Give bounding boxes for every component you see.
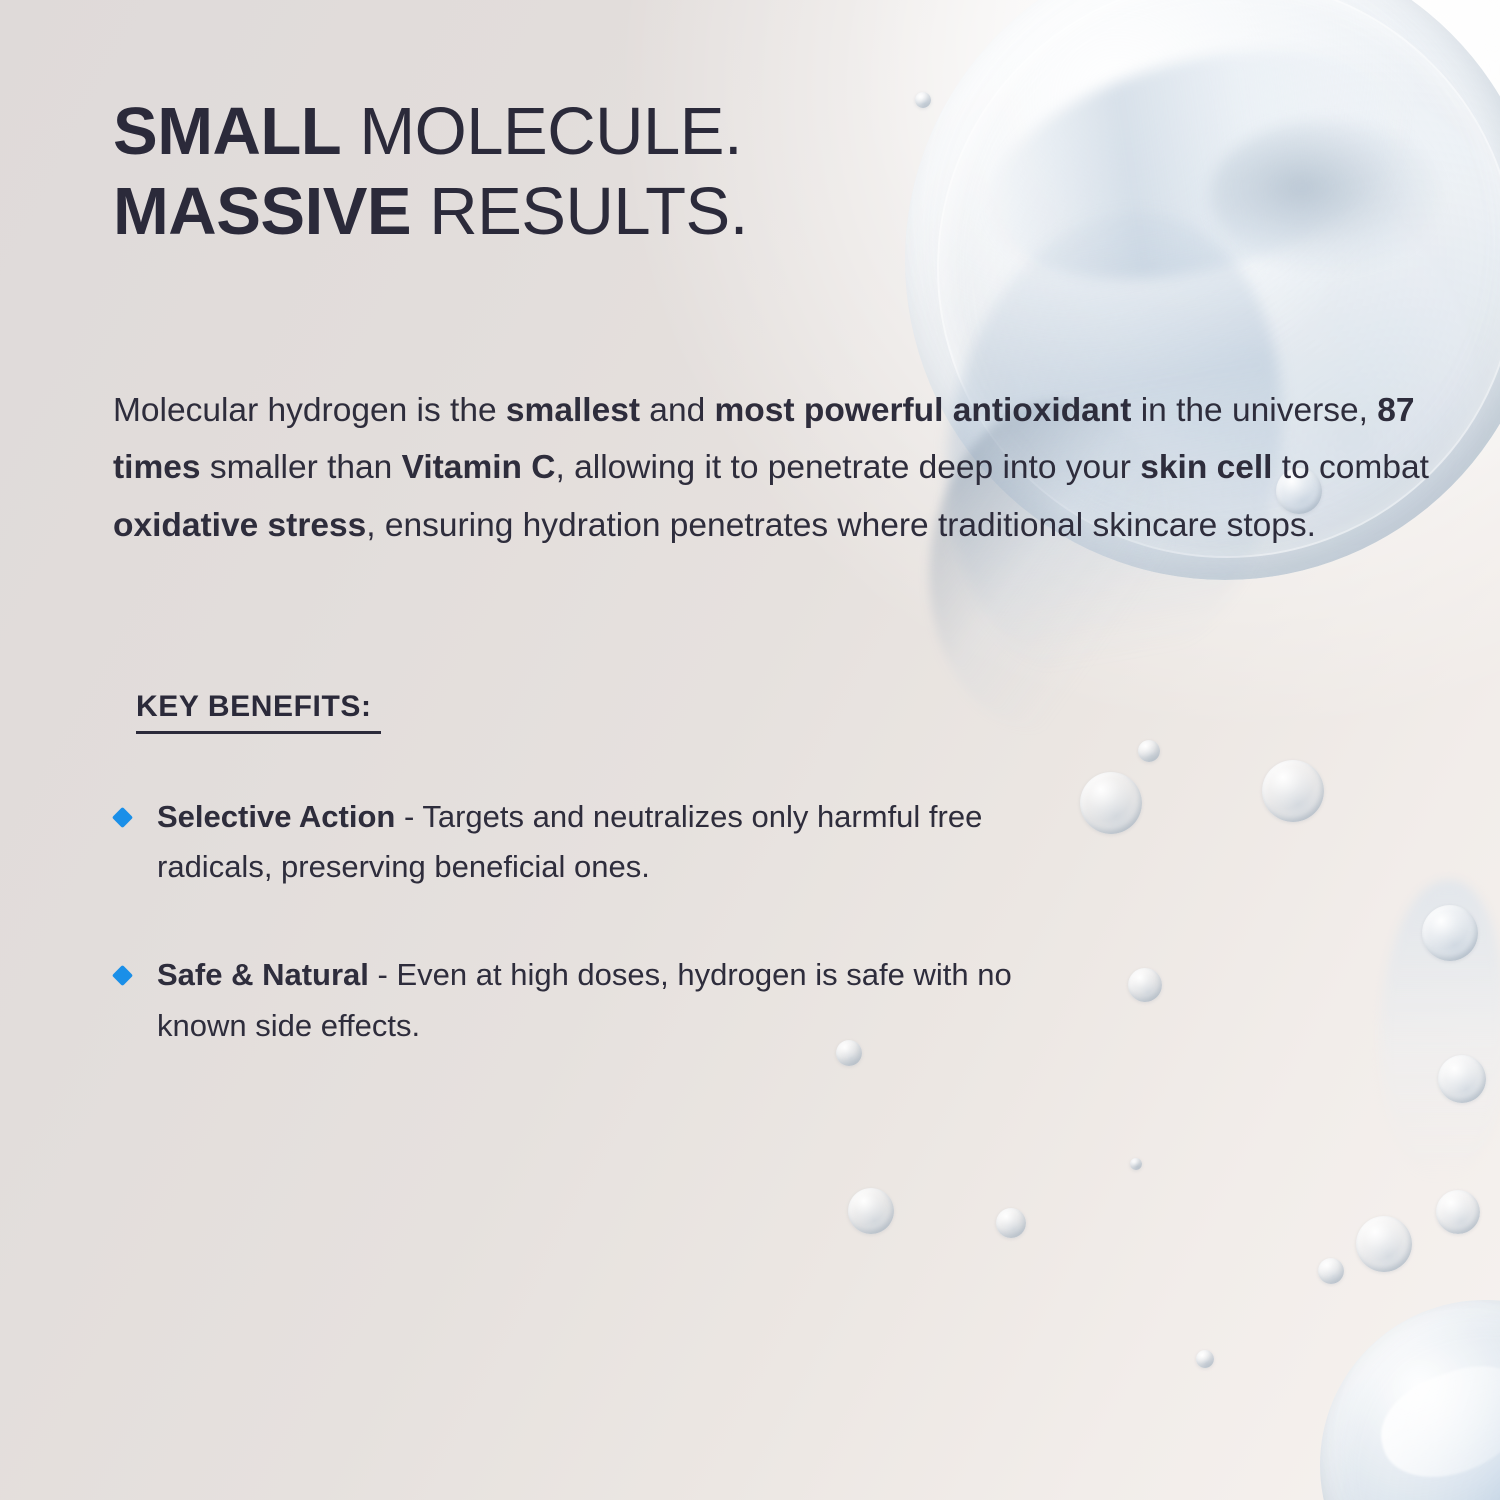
para-text: Molecular hydrogen is the <box>113 392 506 429</box>
para-bold-skin-cell: skin cell <box>1140 449 1272 486</box>
para-text: , allowing it to penetrate deep into you… <box>556 449 1141 486</box>
para-bold-antioxidant: most powerful antioxidant <box>715 392 1132 429</box>
benefit-title: Safe & Natural <box>157 957 369 992</box>
diamond-bullet-icon <box>112 807 133 828</box>
para-text: smaller than <box>201 449 402 486</box>
benefit-separator: - <box>395 799 422 834</box>
headline-emphasis-massive: MASSIVE <box>113 174 411 249</box>
para-bold-oxidative-stress: oxidative stress <box>113 507 366 544</box>
benefit-title: Selective Action <box>157 799 395 834</box>
benefit-separator: - <box>369 957 397 992</box>
headline-emphasis-small: SMALL <box>113 94 341 169</box>
para-bold-smallest: smallest <box>506 392 640 429</box>
infographic-canvas: SMALL MOLECULE. MASSIVE RESULTS. Molecul… <box>0 0 1500 1500</box>
page-title: SMALL MOLECULE. MASSIVE RESULTS. <box>113 92 973 251</box>
list-item: Selective Action - Targets and neutraliz… <box>113 792 1063 892</box>
para-text: and <box>640 392 715 429</box>
list-item: Safe & Natural - Even at high doses, hyd… <box>113 950 1063 1050</box>
headline-rest-results: RESULTS. <box>411 174 748 249</box>
text-content: SMALL MOLECULE. MASSIVE RESULTS. Molecul… <box>0 0 1500 1500</box>
para-text: to combat <box>1272 449 1428 486</box>
para-text: , ensuring hydration penetrates where tr… <box>366 507 1316 544</box>
body-paragraph: Molecular hydrogen is the smallest and m… <box>113 382 1438 555</box>
para-bold-vitamin-c: Vitamin C <box>402 449 556 486</box>
key-benefits-heading: KEY BENEFITS: <box>136 690 381 734</box>
para-text: in the universe, <box>1131 392 1377 429</box>
benefits-list: Selective Action - Targets and neutraliz… <box>113 792 1063 1109</box>
diamond-bullet-icon <box>112 965 133 986</box>
headline-rest-molecule: MOLECULE. <box>341 94 742 169</box>
